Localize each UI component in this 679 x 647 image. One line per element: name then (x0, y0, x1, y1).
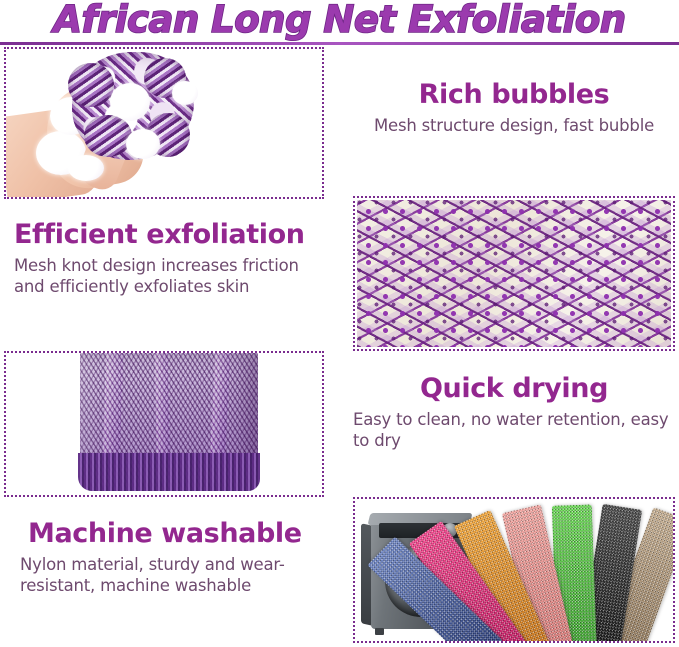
image-washer-and-color-nets (353, 497, 675, 643)
feature-machine-washable: Machine washable Nylon material, sturdy … (20, 519, 340, 597)
cloth-hem (78, 453, 260, 491)
washer-illustration (355, 499, 673, 641)
feature-heading: Rich bubbles (353, 80, 675, 110)
title-bar: African Long Net Exfoliation (0, 0, 679, 46)
feature-heading: Quick drying (353, 374, 675, 404)
feature-body: Easy to clean, no water retention, easy … (353, 409, 675, 453)
feature-quick-drying: Quick drying Easy to clean, no water ret… (353, 374, 675, 452)
suds-bubble (172, 81, 198, 105)
suds-bubble (68, 155, 104, 181)
mesh-knot-dots-secondary (357, 200, 671, 347)
feature-heading: Machine washable (20, 519, 340, 549)
washer-foot (375, 628, 384, 635)
image-folded-mesh-cloth (4, 351, 324, 497)
image-mesh-net-closeup (353, 196, 675, 351)
feature-heading: Efficient exfoliation (14, 220, 334, 250)
sponge-lobe (68, 63, 114, 107)
title-divider (0, 42, 679, 45)
suds-bubble (110, 83, 150, 121)
image-hand-with-sponge (4, 47, 324, 199)
suds-bubble (126, 129, 160, 159)
color-net-fan (467, 499, 675, 643)
cloth-illustration (6, 353, 322, 495)
feature-efficient-exfoliation: Efficient exfoliation Mesh knot design i… (14, 220, 334, 298)
feature-body: Mesh knot design increases friction and … (14, 255, 334, 299)
sponge-lobe (84, 115, 132, 157)
page-title: African Long Net Exfoliation (53, 0, 625, 41)
hand-sponge-illustration (6, 49, 322, 197)
feature-body: Nylon material, sturdy and wear-resistan… (20, 554, 340, 598)
feature-body: Mesh structure design, fast bubble (353, 115, 675, 137)
feature-rich-bubbles: Rich bubbles Mesh structure design, fast… (353, 80, 675, 136)
